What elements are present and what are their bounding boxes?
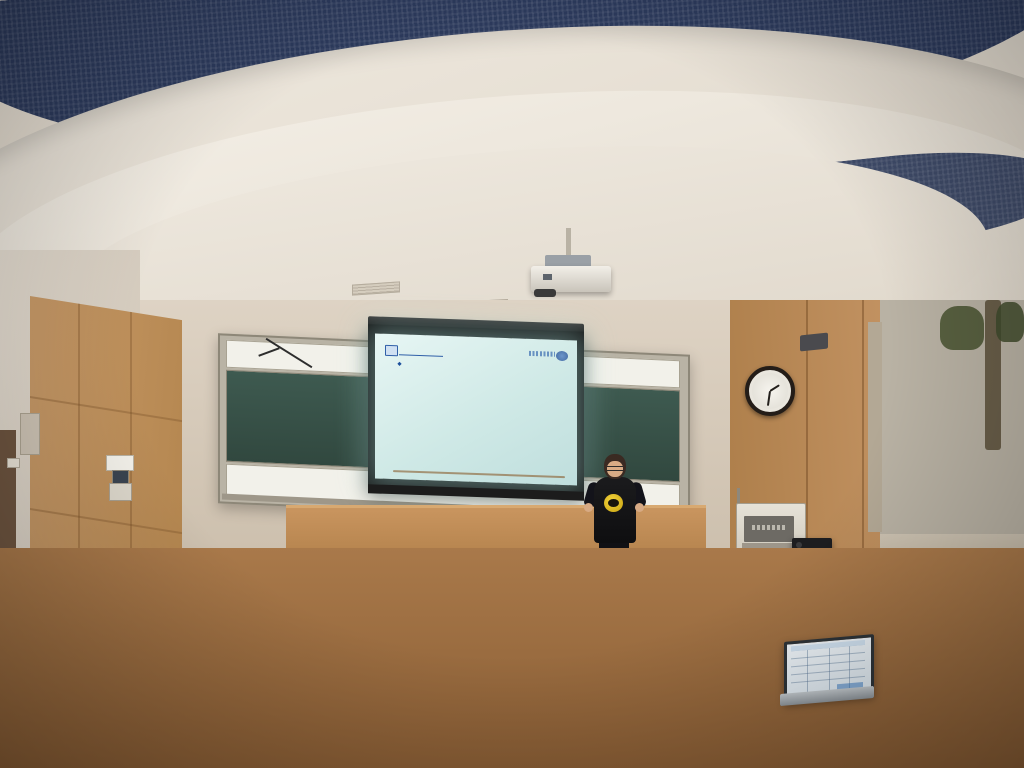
clock-hour-hand [769,384,779,392]
panel-seam [30,508,182,534]
slide-bullet-marker [397,362,401,366]
wall-speaker [800,333,828,352]
slide-university-crest-icon [556,351,568,361]
electrical-box [20,413,40,455]
av-control-panel-lower[interactable] [109,483,132,501]
clock-face [752,373,788,409]
wall-notice-sign [106,455,134,471]
presenter-left-hand [584,503,593,512]
projector-logo-mark [543,274,552,280]
panel-seam [862,300,864,550]
tree-foliage [996,302,1024,342]
microphone-stand [737,488,740,504]
presenter-glasses [607,466,623,471]
slide-title-underline [399,354,443,357]
slide-table [379,338,573,345]
lectern-logo [752,525,786,530]
ceiling [0,0,1024,330]
presenter-right-hand [635,503,644,512]
projector-mount [566,228,571,258]
slide-title-icon [385,345,398,356]
presenter-shirt-logo-inner [608,499,619,507]
wall-clock [745,366,795,416]
clock-minute-hand [767,391,771,406]
panel-seam [30,396,182,422]
window-pillar [868,322,882,532]
side-door[interactable] [0,430,16,550]
light-switch[interactable] [7,458,20,468]
projector-lens [534,289,556,297]
tree-foliage [940,306,984,350]
slide-university-wordmark [529,351,555,357]
slide-footnote [393,470,565,478]
lecture-hall-photo [0,0,1024,768]
slide-content [375,333,577,485]
